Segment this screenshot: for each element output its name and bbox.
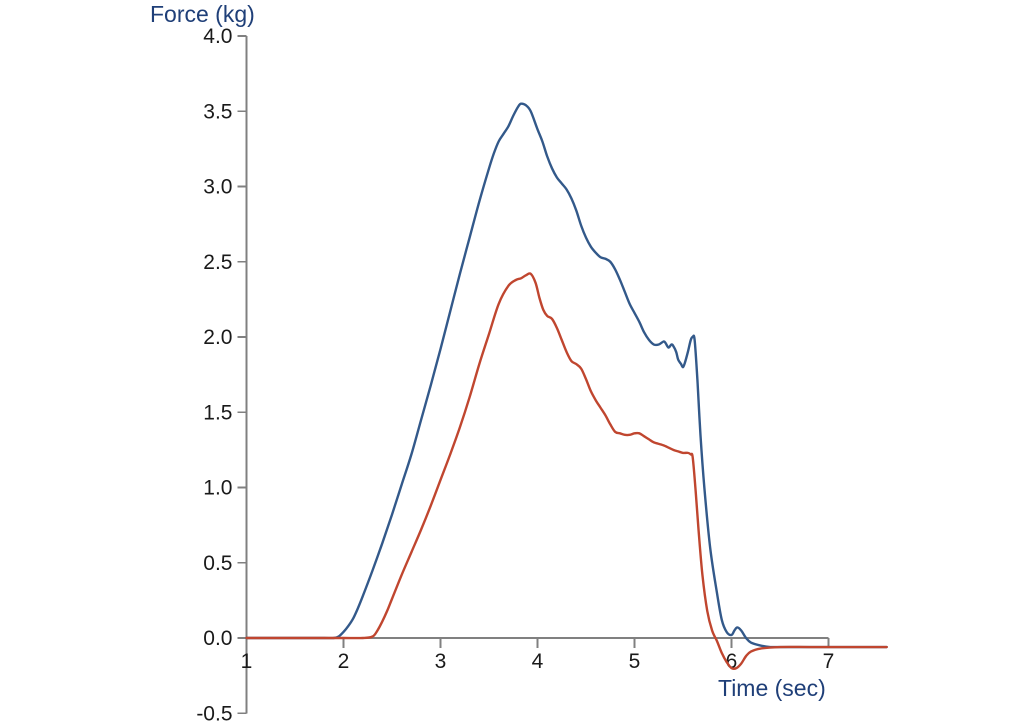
y-tick-label: 3.5: [203, 100, 232, 123]
y-tick-label: 3.0: [203, 176, 232, 199]
y-tick-label: 2.0: [203, 326, 232, 349]
x-tick-label: 5: [629, 650, 641, 673]
y-axis-title: Force (kg): [150, 1, 255, 27]
x-axis-title: Time (sec): [718, 675, 826, 701]
y-axis-ticks: -0.50.00.51.01.52.02.53.03.54.0: [196, 25, 246, 725]
force-time-chart: -0.50.00.51.01.52.02.53.03.54.0 1234567 …: [0, 0, 1024, 725]
series-line-series_2: [247, 273, 887, 668]
x-tick-label: 1: [241, 650, 253, 673]
y-tick-label: 0.5: [203, 552, 232, 575]
x-tick-label: 7: [823, 650, 835, 673]
y-tick-label: 1.5: [203, 401, 232, 424]
y-tick-label: 2.5: [203, 251, 232, 274]
x-tick-label: 3: [435, 650, 447, 673]
x-tick-label: 2: [338, 650, 350, 673]
x-tick-label: 4: [532, 650, 544, 673]
data-series-group: [247, 104, 887, 669]
axes-group: [247, 36, 829, 713]
y-tick-label: 1.0: [203, 477, 232, 500]
chart-canvas: -0.50.00.51.01.52.02.53.03.54.0 1234567 …: [0, 0, 1024, 725]
series-line-series_1: [247, 104, 887, 647]
y-tick-label: 4.0: [203, 25, 232, 48]
y-tick-label: 0.0: [203, 627, 232, 650]
y-tick-label: -0.5: [196, 702, 232, 725]
